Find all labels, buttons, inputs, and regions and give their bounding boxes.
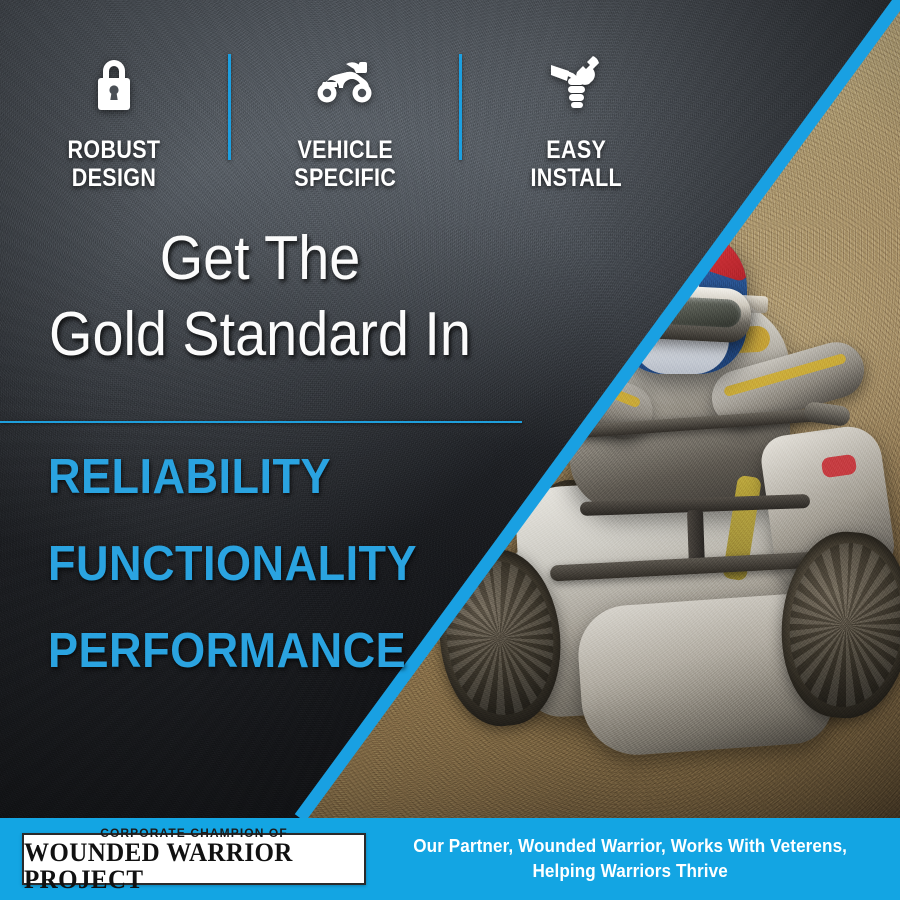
feature-vehicle-specific: VEHICLE SPECIFIC bbox=[231, 52, 459, 192]
lock-icon bbox=[78, 52, 150, 114]
benefits-list: RELIABILITY FUNCTIONALITY PERFORMANCE bbox=[48, 452, 518, 713]
benefit-item: FUNCTIONALITY bbox=[48, 539, 480, 589]
headline: Get The Gold Standard In bbox=[0, 228, 520, 380]
logo-main-line: WOUNDED WARRIOR PROJECT bbox=[24, 839, 364, 893]
headline-underline-rule bbox=[0, 421, 522, 423]
wrench-hand-icon bbox=[540, 52, 612, 114]
headline-line-1: Get The bbox=[26, 228, 494, 290]
feature-easy-install: EASY INSTALL bbox=[462, 52, 690, 192]
atv-icon bbox=[309, 52, 381, 114]
footer-bar: CORPORATE CHAMPION OF WOUNDED WARRIOR PR… bbox=[0, 818, 900, 900]
feature-label: EASY INSTALL bbox=[530, 136, 622, 192]
feature-label: ROBUST DESIGN bbox=[68, 136, 161, 192]
promo-banner: ROBUST DESIGN VEHICLE SPECIFIC bbox=[0, 0, 900, 900]
wounded-warrior-project-logo: CORPORATE CHAMPION OF WOUNDED WARRIOR PR… bbox=[22, 833, 366, 885]
feature-label: VEHICLE SPECIFIC bbox=[294, 136, 396, 192]
feature-strip: ROBUST DESIGN VEHICLE SPECIFIC bbox=[0, 52, 690, 192]
benefit-item: PERFORMANCE bbox=[48, 626, 480, 676]
feature-robust-design: ROBUST DESIGN bbox=[0, 52, 228, 192]
headline-line-2: Gold Standard In bbox=[26, 304, 494, 366]
footer-tagline: Our Partner, Wounded Warrior, Works With… bbox=[379, 834, 886, 884]
benefit-item: RELIABILITY bbox=[48, 452, 480, 502]
logo-top-line: CORPORATE CHAMPION OF bbox=[100, 826, 288, 840]
